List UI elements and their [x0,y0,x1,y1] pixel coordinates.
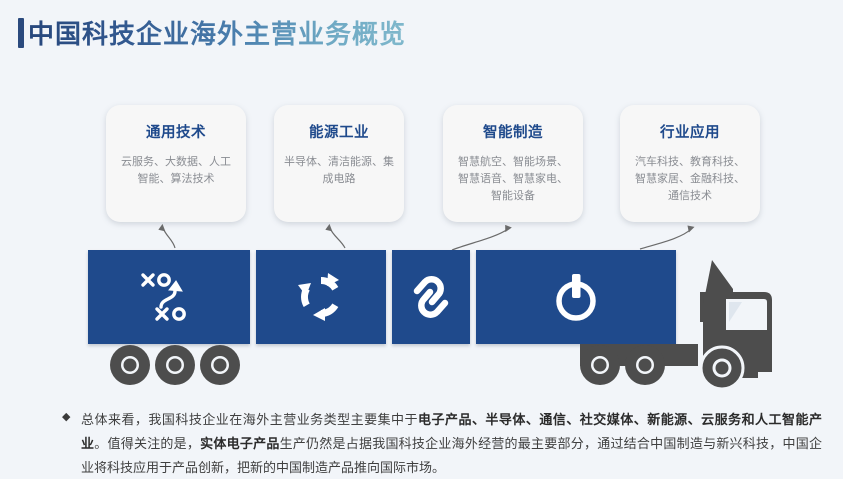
connector-2 [330,228,345,248]
page-title-text: 中国科技企业海外主营业务概览 [28,14,406,51]
footer-summary: ◆ 总体来看，我国科技企业在海外主营业务类型主要集中于电子产品、半导体、通信、社… [62,408,822,479]
category-card-general-technology[interactable]: 通用技术 云服务、大数据、人工智能、算法技术 [106,105,246,222]
card-body: 智慧航空、智能场景、智慧语音、智慧家电、智能设备 [453,154,573,205]
trailer-wheels-right [580,345,665,385]
category-card-energy-industry[interactable]: 能源工业 半导体、清洁能源、集成电路 [274,105,404,222]
power-button-icon [547,268,605,326]
truck-front-wheel [701,347,743,389]
connector-1 [163,228,175,248]
footer-paragraph: 总体来看，我国科技企业在海外主营业务类型主要集中于电子产品、半导体、通信、社交媒… [81,408,822,479]
cargo-box-smart-manufacturing[interactable] [392,250,470,344]
card-body: 半导体、清洁能源、集成电路 [284,154,394,188]
title-accent-bar [18,18,24,48]
category-card-industry-application[interactable]: 行业应用 汽车科技、教育科技、智慧家居、金融科技、通信技术 [620,105,760,222]
strategy-playbook-icon [137,269,201,325]
footer-segment: 。值得关注的是， [94,436,200,451]
card-title: 行业应用 [660,121,720,142]
card-body: 汽车科技、教育科技、智慧家居、金融科技、通信技术 [630,154,750,205]
card-title: 能源工业 [309,121,369,142]
slide-canvas: 中国科技企业海外主营业务概览 通用技术 云服务、大数据、人工智能、算法技术 能源… [0,0,843,479]
connector-3 [452,229,508,250]
card-title: 通用技术 [146,121,206,142]
card-title: 智能制造 [483,121,543,142]
chain-link-icon [407,269,455,325]
cargo-box-energy-industry[interactable] [256,250,386,344]
bullet-diamond-icon: ◆ [62,410,70,423]
trailer-wheels-left [110,345,240,385]
footer-segment-bold: 实体电子产品 [200,436,279,451]
connector-4 [640,229,691,249]
page-title: 中国科技企业海外主营业务概览 [18,14,406,51]
recycle-arrows-icon [295,271,347,323]
category-card-smart-manufacturing[interactable]: 智能制造 智慧航空、智能场景、智慧语音、智慧家电、智能设备 [443,105,583,222]
cargo-box-industry-application[interactable] [476,250,676,344]
truck-cab [703,292,772,372]
cargo-box-general-technology[interactable] [88,250,250,344]
card-body: 云服务、大数据、人工智能、算法技术 [116,154,236,188]
truck-fin [705,260,733,295]
footer-segment: 总体来看，我国科技企业在海外主营业务类型主要集中于 [81,412,418,427]
